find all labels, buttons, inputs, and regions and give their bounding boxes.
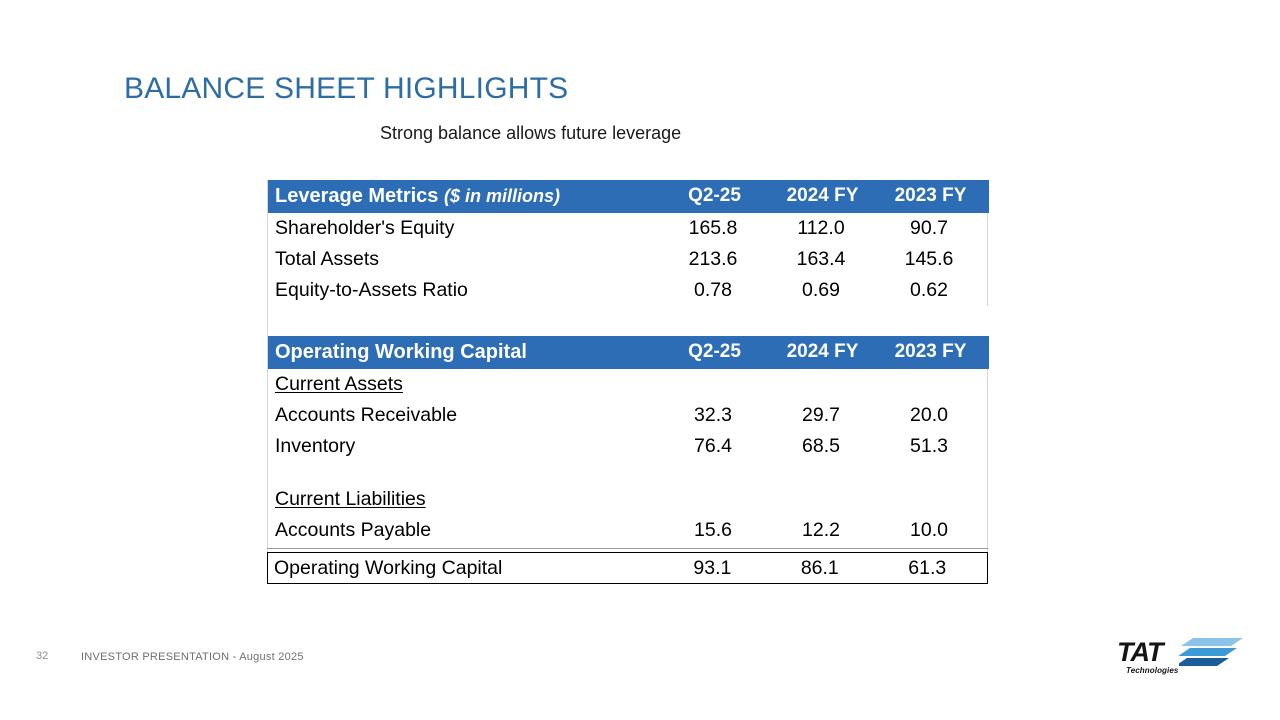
- working-capital-table-header-row: Operating Working Capital Q2-25 2024 FY …: [268, 336, 989, 369]
- leverage-header-label: Leverage Metrics ($ in millions): [268, 180, 665, 213]
- section-label-current-liabilities-text: Current Liabilities: [275, 488, 426, 510]
- section-empty-cell: [881, 369, 989, 400]
- total-table: Operating Working Capital 93.1 86.1 61.3: [268, 553, 987, 583]
- section-spacer-cell: [268, 462, 665, 484]
- row-value-equity-to-assets-ratio-2023-fy: 0.62: [881, 275, 989, 306]
- row-value-accounts-payable-2023-fy: 10.0: [881, 515, 989, 546]
- leverage-header-col-2024-fy: 2024 FY: [773, 180, 881, 213]
- section-header-row: Current Assets: [268, 369, 989, 400]
- section-empty-cell: [773, 484, 881, 515]
- row-value-equity-to-assets-ratio-q2-25: 0.78: [665, 275, 773, 306]
- row-value-inventory-q2-25: 76.4: [665, 431, 773, 462]
- logo-wordmark: TAT: [1117, 637, 1162, 668]
- page-title: BALANCE SHEET HIGHLIGHTS: [124, 72, 568, 106]
- row-value-accounts-payable-2024-fy: 12.2: [773, 515, 881, 546]
- row-value-inventory-2023-fy: 51.3: [881, 431, 989, 462]
- table-row: Inventory 76.4 68.5 51.3: [268, 431, 989, 462]
- footer-page-number: 32: [36, 650, 48, 662]
- table-gap-cell: [773, 306, 881, 336]
- row-value-total-assets-2024-fy: 163.4: [773, 244, 881, 275]
- tat-technologies-logo: TAT Technologies: [1117, 636, 1247, 682]
- row-value-accounts-receivable-q2-25: 32.3: [665, 400, 773, 431]
- leverage-header-units: ($ in millions): [444, 186, 560, 206]
- row-value-shareholders-equity-2024-fy: 112.0: [773, 213, 881, 244]
- row-label-inventory: Inventory: [268, 431, 665, 462]
- section-empty-cell: [773, 369, 881, 400]
- table-row: Total Assets 213.6 163.4 145.6: [268, 244, 989, 275]
- row-value-shareholders-equity-q2-25: 165.8: [665, 213, 773, 244]
- total-label-operating-working-capital: Operating Working Capital: [268, 553, 665, 583]
- section-spacer-cell: [881, 462, 989, 484]
- row-value-inventory-2024-fy: 68.5: [773, 431, 881, 462]
- section-empty-cell: [881, 484, 989, 515]
- row-value-shareholders-equity-2023-fy: 90.7: [881, 213, 989, 244]
- table-gap-row: [268, 306, 989, 336]
- table-gap-cell: [268, 306, 665, 336]
- footer-presentation-label: INVESTOR PRESENTATION - August 2025: [81, 651, 304, 663]
- row-label-equity-to-assets-ratio: Equity-to-Assets Ratio: [268, 275, 665, 306]
- row-value-accounts-receivable-2023-fy: 20.0: [881, 400, 989, 431]
- financial-tables: Leverage Metrics ($ in millions) Q2-25 2…: [267, 180, 988, 566]
- section-empty-cell: [665, 369, 773, 400]
- table-gap-cell: [665, 306, 773, 336]
- total-value-2024-fy: 86.1: [772, 553, 879, 583]
- row-value-total-assets-2023-fy: 145.6: [881, 244, 989, 275]
- section-spacer-row: [268, 462, 989, 484]
- section-label-current-assets: Current Assets: [268, 369, 665, 400]
- row-label-total-assets: Total Assets: [268, 244, 665, 275]
- leverage-header-col-q2-25: Q2-25: [665, 180, 773, 213]
- section-spacer-cell: [665, 462, 773, 484]
- total-value-2023-fy: 61.3: [880, 553, 987, 583]
- total-value-q2-25: 93.1: [665, 553, 772, 583]
- row-value-accounts-receivable-2024-fy: 29.7: [773, 400, 881, 431]
- row-label-accounts-payable: Accounts Payable: [268, 515, 665, 546]
- logo-tagline: Technologies: [1126, 666, 1178, 675]
- page-subtitle: Strong balance allows future leverage: [380, 123, 681, 144]
- table-row: Accounts Receivable 32.3 29.7 20.0: [268, 400, 989, 431]
- working-capital-header-col-q2-25: Q2-25: [665, 336, 773, 369]
- section-label-current-assets-text: Current Assets: [275, 373, 403, 395]
- working-capital-header-col-2023-fy: 2023 FY: [881, 336, 989, 369]
- section-header-row: Current Liabilities: [268, 484, 989, 515]
- row-label-accounts-receivable: Accounts Receivable: [268, 400, 665, 431]
- row-value-equity-to-assets-ratio-2024-fy: 0.69: [773, 275, 881, 306]
- section-empty-cell: [665, 484, 773, 515]
- section-label-current-liabilities: Current Liabilities: [268, 484, 665, 515]
- row-value-total-assets-q2-25: 213.6: [665, 244, 773, 275]
- working-capital-header-col-2024-fy: 2024 FY: [773, 336, 881, 369]
- row-label-shareholders-equity: Shareholder's Equity: [268, 213, 665, 244]
- operating-working-capital-total-box: Operating Working Capital 93.1 86.1 61.3: [267, 552, 988, 584]
- total-row: Operating Working Capital 93.1 86.1 61.3: [268, 553, 987, 583]
- leverage-header-col-2023-fy: 2023 FY: [881, 180, 989, 213]
- pre-total-divider: [267, 548, 988, 549]
- leverage-table-header-row: Leverage Metrics ($ in millions) Q2-25 2…: [268, 180, 989, 213]
- logo-stripes-icon: [1179, 637, 1245, 669]
- table-row: Shareholder's Equity 165.8 112.0 90.7: [268, 213, 989, 244]
- working-capital-header-title: Operating Working Capital: [268, 336, 665, 369]
- row-value-accounts-payable-q2-25: 15.6: [665, 515, 773, 546]
- leverage-header-title: Leverage Metrics: [275, 185, 438, 207]
- leverage-and-working-capital-table: Leverage Metrics ($ in millions) Q2-25 2…: [268, 180, 989, 566]
- table-row: Equity-to-Assets Ratio 0.78 0.69 0.62: [268, 275, 989, 306]
- table-row: Accounts Payable 15.6 12.2 10.0: [268, 515, 989, 546]
- section-spacer-cell: [773, 462, 881, 484]
- table-gap-cell: [881, 306, 989, 336]
